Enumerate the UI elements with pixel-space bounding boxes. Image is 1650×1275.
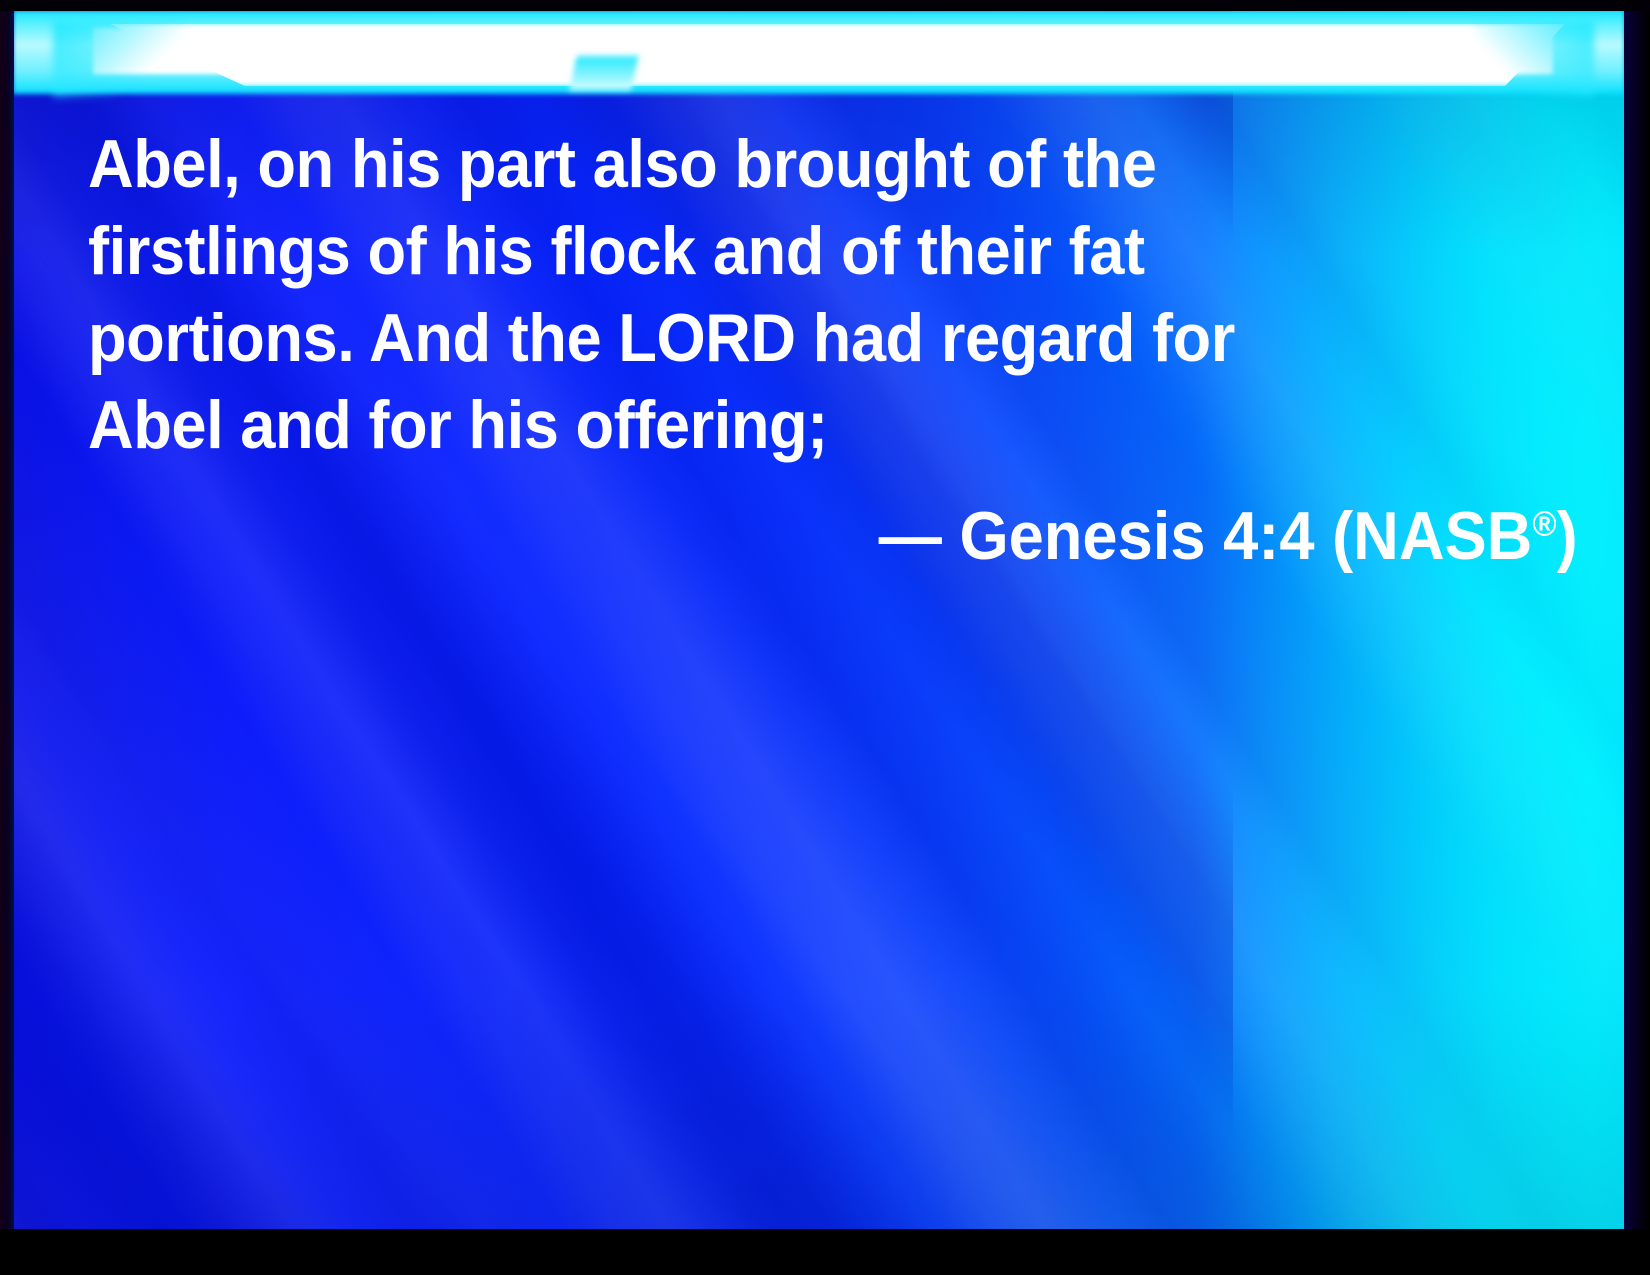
border-left <box>0 0 14 1275</box>
verse-line-1: Abel, on his part also brought of the <box>88 121 1483 208</box>
attribution-translation: (NASB <box>1332 498 1532 574</box>
verse-slide: Abel, on his part also brought of the fi… <box>0 0 1650 1275</box>
verse-line-2: firstlings of his flock and of their fat <box>88 208 1483 295</box>
border-bottom <box>0 1229 1650 1275</box>
header-notch <box>569 56 638 90</box>
attribution-book: Genesis <box>960 498 1206 574</box>
verse-attribution: — Genesis 4:4 (NASB®) <box>88 493 1588 580</box>
attribution-dash: — <box>879 498 942 574</box>
attribution-reference: 4:4 <box>1223 498 1314 574</box>
border-top <box>0 0 1650 11</box>
border-right <box>1624 0 1650 1275</box>
registered-trademark-icon: ® <box>1533 504 1557 543</box>
attribution-inner: — Genesis 4:4 (NASB®) <box>879 493 1578 580</box>
verse-lines: Abel, on his part also brought of the fi… <box>88 121 1588 580</box>
header-white-core <box>93 28 1553 74</box>
header-right-taper <box>1474 20 1594 98</box>
header-glow-band <box>13 10 1624 102</box>
attribution-paren-close: ) <box>1557 498 1578 574</box>
slide-background: Abel, on his part also brought of the fi… <box>13 10 1624 1229</box>
verse-line-3: portions. And the LORD had regard for <box>88 295 1483 382</box>
verse-line-4: Abel and for his offering; <box>88 382 1483 469</box>
header-left-taper <box>53 20 183 98</box>
